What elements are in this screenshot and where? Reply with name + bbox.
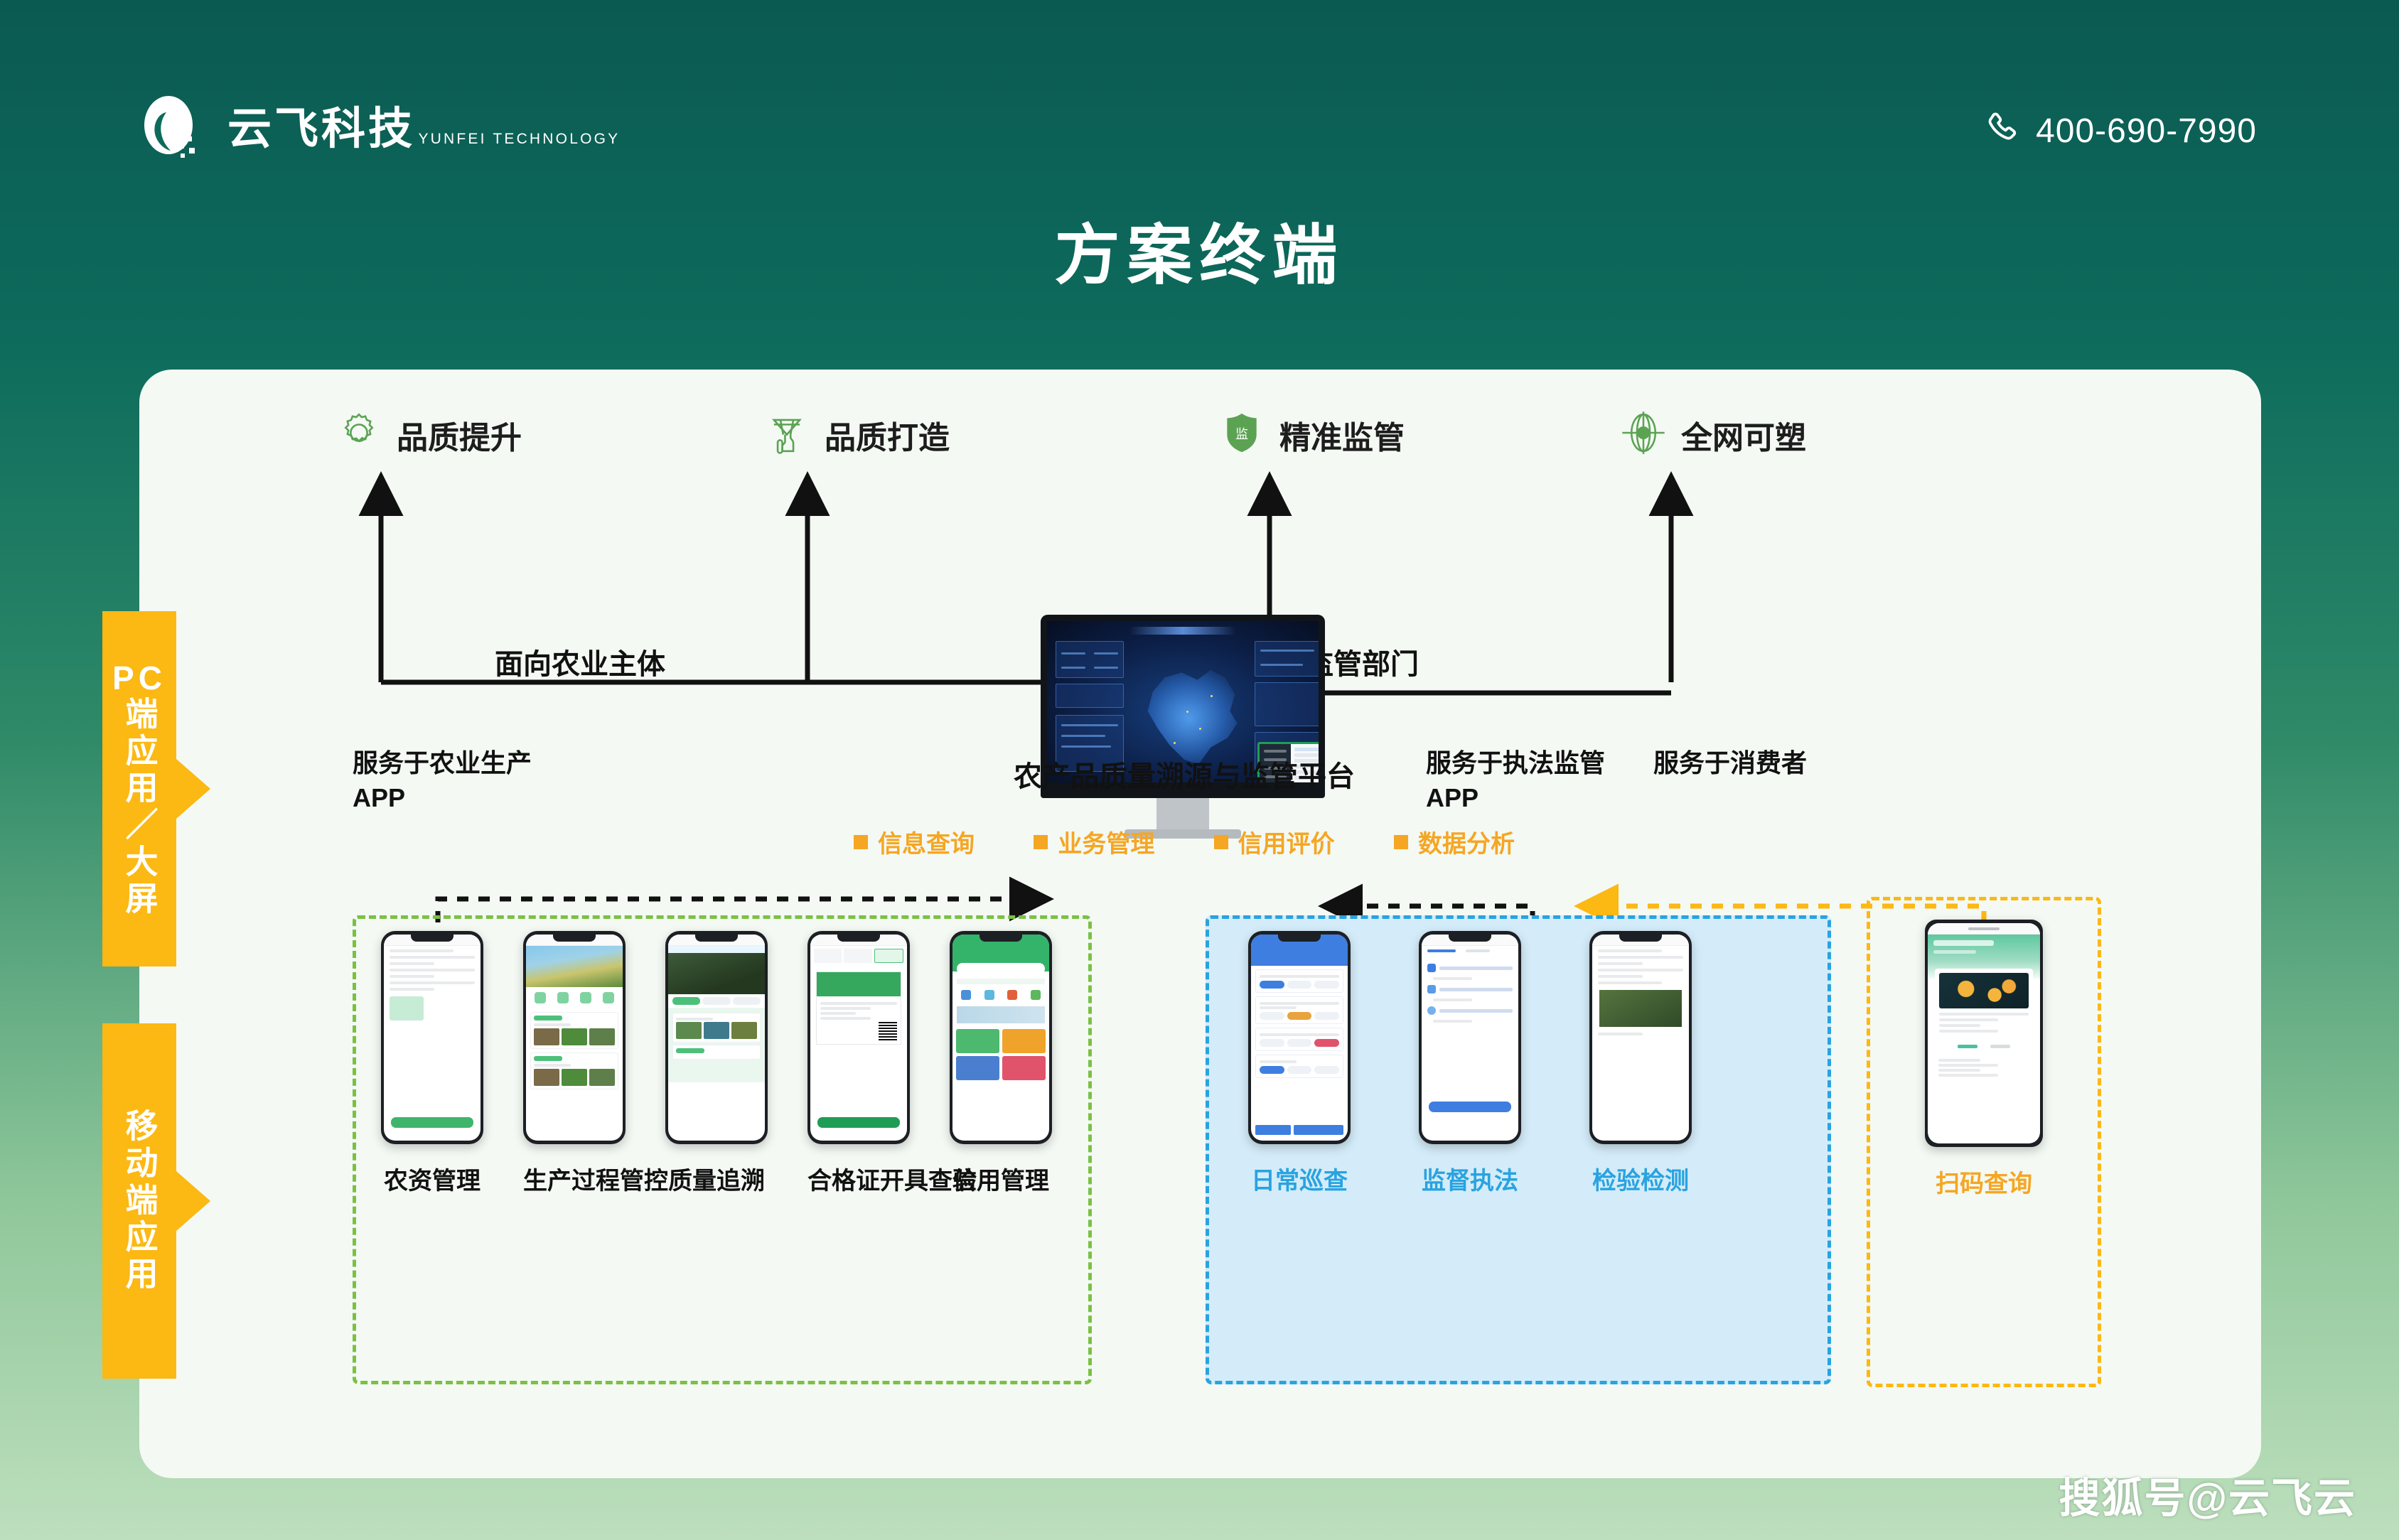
phone-caption: 扫码查询 <box>1925 1164 2043 1199</box>
feature-label: 品质提升 <box>397 412 522 458</box>
service-caption-enforcement: 服务于执法监管 APP <box>1426 746 1605 815</box>
square-bullet-icon <box>1394 835 1408 849</box>
phone-mockup-credit[interactable]: 信用管理 <box>950 931 1052 1196</box>
feature-label: 全网可塑 <box>1681 412 1806 458</box>
square-bullet-icon <box>854 835 868 849</box>
phone-screen <box>1422 935 1518 1141</box>
phone-number: 400-690-7990 <box>2036 112 2257 151</box>
flow-label-left: 面向农业主体 <box>495 641 665 682</box>
phone-screen <box>668 935 765 1141</box>
platform-tag-row: 信息查询 业务管理 信用评价 数据分析 <box>854 824 1515 859</box>
service-caption-text: 服务于消费者 <box>1653 748 1807 777</box>
phone-mockup-certificate[interactable]: 合格证开具查验 <box>807 931 910 1196</box>
tag-label: 信息查询 <box>878 824 975 859</box>
phone-screen <box>1251 935 1348 1141</box>
gear-quality-icon <box>337 411 381 458</box>
feature-row: 品质提升 品质打造 监 精准监管 <box>139 405 2261 483</box>
tag-label: 业务管理 <box>1058 824 1154 859</box>
phone-screen <box>526 935 623 1141</box>
banner-pc-arrow-icon <box>176 759 210 819</box>
shield-supervise-icon: 监 <box>1220 411 1264 458</box>
feature-precise-supervision[interactable]: 监 精准监管 <box>1220 411 1405 458</box>
phone-caption: 生产过程管控 <box>523 1161 626 1196</box>
phone-screen <box>952 935 1049 1141</box>
page-header: 云飞科技 YUNFEI TECHNOLOGY 400-690-7990 方案终端 <box>0 0 2399 192</box>
phone-caption: 日常巡查 <box>1248 1161 1351 1196</box>
platform-tag[interactable]: 信息查询 <box>854 824 975 859</box>
svg-text:监: 监 <box>1235 427 1248 441</box>
banner-pc-application: PC 端应用／大屏 <box>102 611 176 966</box>
logo-text-cn: 云飞科技 <box>227 104 415 154</box>
service-caption-text: 服务于农业生产 APP <box>353 748 532 812</box>
platform-tag[interactable]: 业务管理 <box>1034 824 1154 859</box>
banner-pc-lead: PC <box>112 659 166 697</box>
phone-caption: 监督执法 <box>1419 1161 1521 1196</box>
feature-label: 品质打造 <box>825 412 950 458</box>
platform-caption: 农产品质量溯源与监管平台 <box>914 753 1454 795</box>
phone-mockup-testing[interactable]: 检验检测 <box>1589 931 1692 1196</box>
feature-quality-build[interactable]: 品质打造 <box>765 411 950 458</box>
phone-caption: 合格证开具查验 <box>807 1161 910 1196</box>
phone-screen <box>384 935 481 1141</box>
service-caption-production: 服务于农业生产 APP <box>353 746 532 815</box>
brand-logo: 云飞科技 YUNFEI TECHNOLOGY <box>135 92 620 166</box>
watermark: 搜狐号@云飞云 <box>2059 1465 2356 1524</box>
phone-caption: 检验检测 <box>1589 1161 1692 1196</box>
phone-mockup-row: 农资管理 <box>139 931 2261 1386</box>
platform-tag[interactable]: 数据分析 <box>1394 824 1515 859</box>
leaf-circle-logo-icon <box>135 92 209 166</box>
platform-tag[interactable]: 信用评价 <box>1214 824 1335 859</box>
phone-screen <box>1928 923 2040 1143</box>
square-bullet-icon <box>1034 835 1048 849</box>
phone-mockup-production-control[interactable]: 生产过程管控 <box>523 931 626 1196</box>
dashboard-title-bar <box>1129 627 1236 635</box>
square-bullet-icon <box>1214 835 1228 849</box>
service-caption-text: 服务于执法监管 APP <box>1426 748 1605 812</box>
phone-screen <box>1592 935 1689 1141</box>
service-caption-consumer: 服务于消费者 <box>1653 746 1807 781</box>
feature-network-shapeable[interactable]: 全网可塑 <box>1621 411 1806 458</box>
phone-icon <box>1983 110 2022 152</box>
phone-caption: 信用管理 <box>950 1161 1052 1196</box>
banner-pc-text: 端应用／大屏 <box>121 696 159 918</box>
feature-quality-improve[interactable]: 品质提升 <box>337 411 522 458</box>
globe-target-icon <box>1621 411 1665 458</box>
tag-label: 信用评价 <box>1238 824 1335 859</box>
feature-label: 精准监管 <box>1279 412 1405 458</box>
tag-label: 数据分析 <box>1418 824 1515 859</box>
phone-mockup-agri-materials[interactable]: 农资管理 <box>381 931 483 1196</box>
phone-caption: 农资管理 <box>381 1161 483 1196</box>
main-content-card: 品质提升 品质打造 监 精准监管 <box>139 370 2261 1478</box>
phone-screen <box>810 935 907 1141</box>
phone-mockup-scan-query[interactable]: 扫码查询 <box>1925 920 2043 1199</box>
phone-mockup-law-enforcement[interactable]: 监督执法 <box>1419 931 1521 1196</box>
phone-mockup-daily-inspection[interactable]: 日常巡查 <box>1248 931 1351 1196</box>
desktop-monitor <box>1041 615 1325 839</box>
contact-phone[interactable]: 400-690-7990 <box>1983 110 2257 152</box>
phone-caption: 质量追溯 <box>665 1161 768 1196</box>
diamond-hand-icon <box>765 411 809 458</box>
logo-text-en: YUNFEI TECHNOLOGY <box>418 131 620 147</box>
page-title: 方案终端 <box>0 203 2399 297</box>
phone-mockup-quality-trace[interactable]: 质量追溯 <box>665 931 768 1196</box>
